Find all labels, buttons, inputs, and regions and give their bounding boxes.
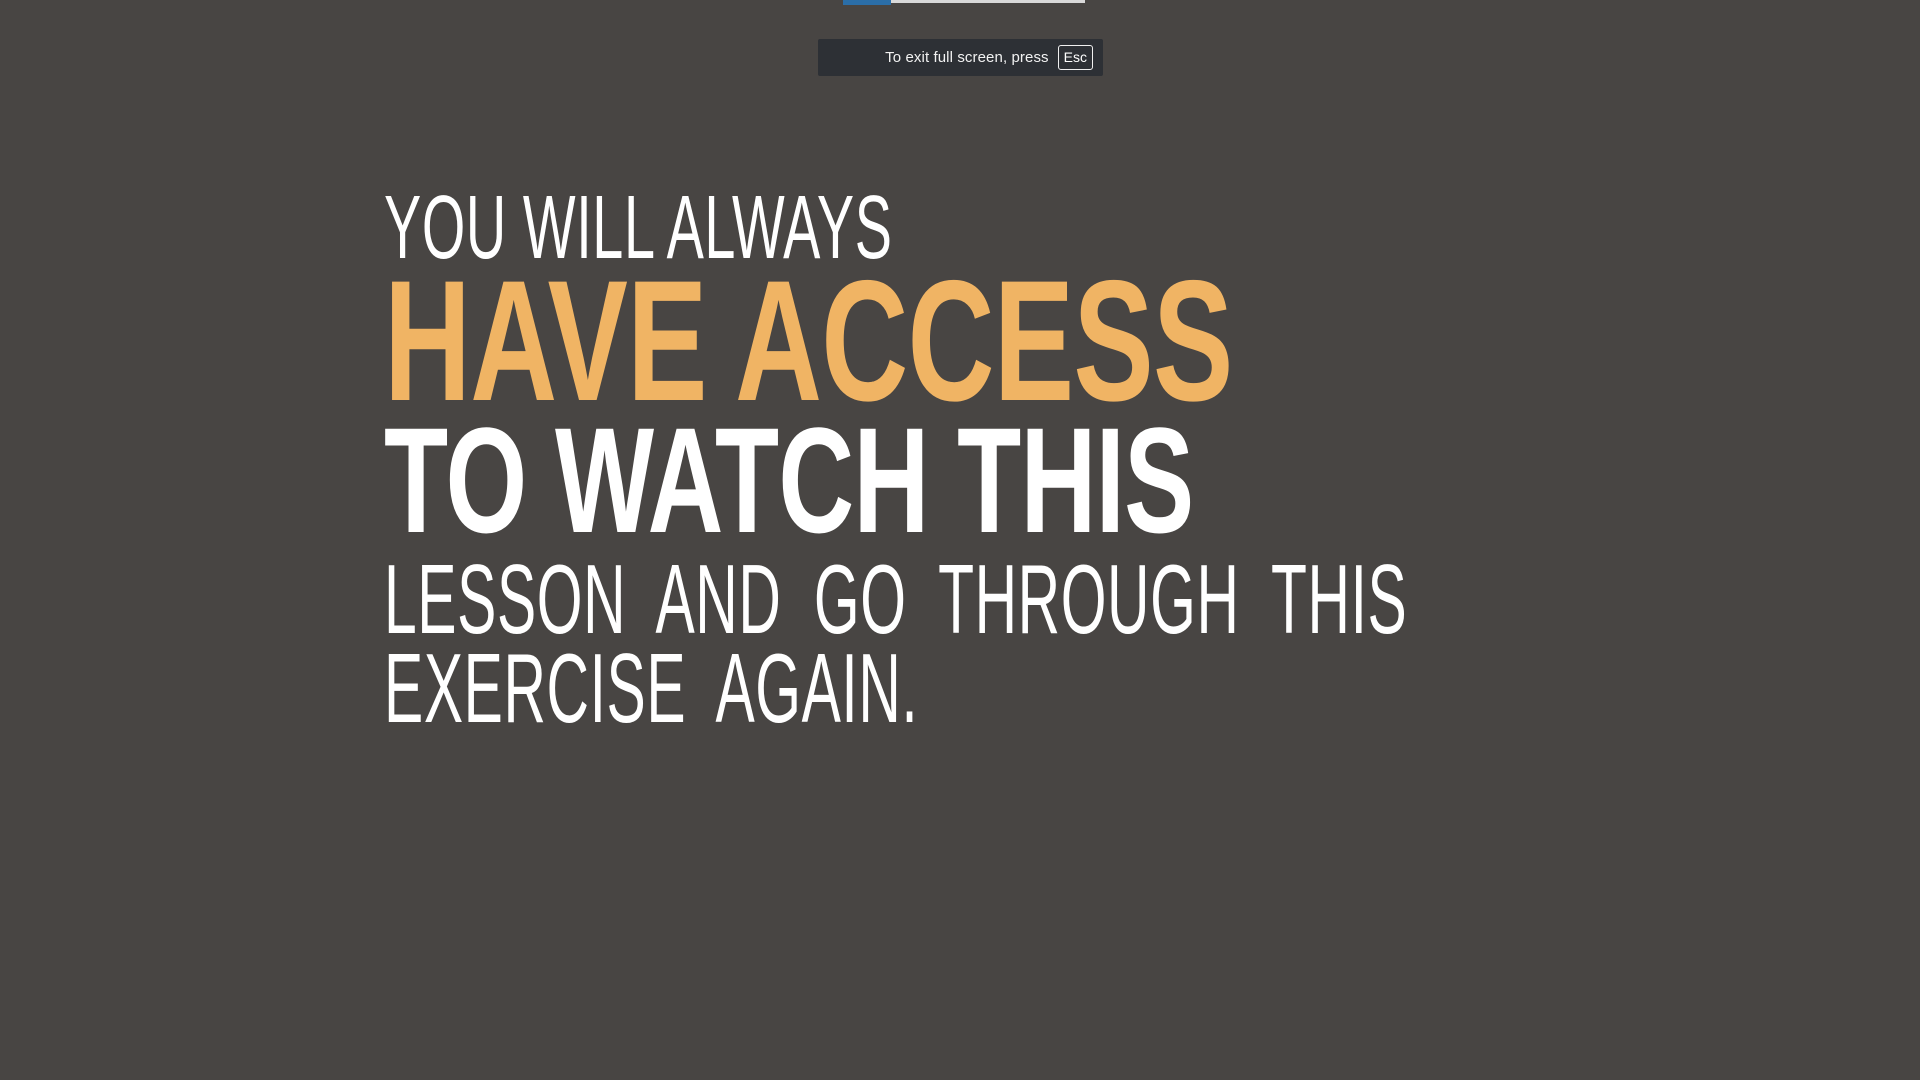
headline-line-3: TO WATCH THIS	[384, 414, 1378, 544]
esc-key-badge[interactable]: Esc	[1058, 45, 1093, 70]
progress-fill	[843, 0, 891, 5]
fullscreen-notice-message: To exit full screen, press	[885, 49, 1049, 66]
page-load-progress-bar	[843, 0, 1085, 6]
headline-line-5: EXERCISE AGAIN.	[384, 639, 1236, 734]
headline-line-4: LESSON AND GO THROUGH THIS	[384, 550, 1236, 645]
slide-headline-block: YOU WILL ALWAYS HAVE ACCESS TO WATCH THI…	[384, 186, 1804, 734]
fullscreen-exit-notification: To exit full screen, press Esc	[818, 39, 1103, 76]
